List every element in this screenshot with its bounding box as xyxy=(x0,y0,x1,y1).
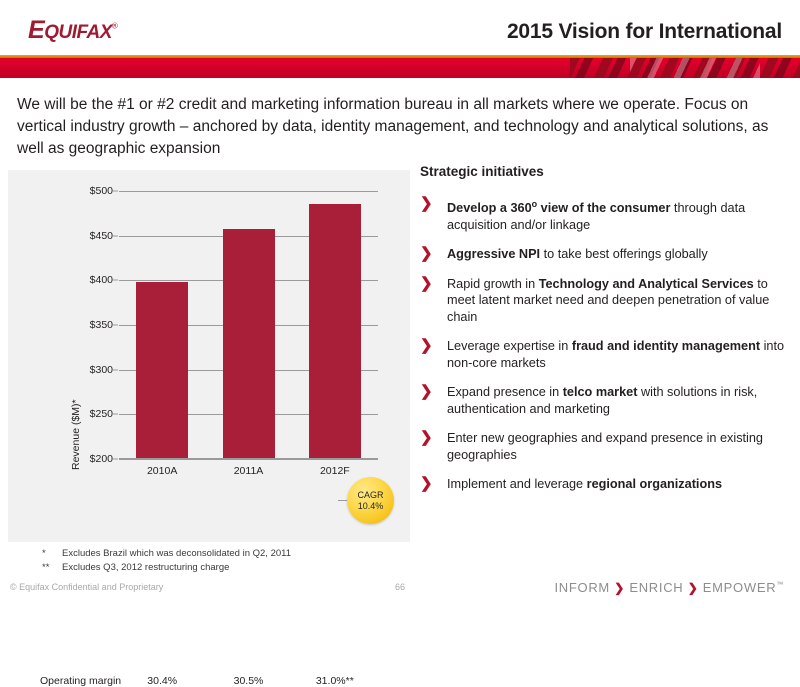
chevron-bullet-icon: ❯ xyxy=(420,245,433,262)
initiative-emphasis: telco market xyxy=(563,385,638,399)
degree-superscript: o xyxy=(532,199,538,209)
footnote-text: Excludes Brazil which was deconsolidated… xyxy=(62,548,291,559)
grid-line xyxy=(119,191,378,192)
y-axis-tick-label: $400 xyxy=(90,274,113,286)
tagline-enrich: ENRICH xyxy=(629,580,683,595)
y-axis-tick-mark xyxy=(113,414,118,415)
bar-2012F xyxy=(309,204,361,459)
operating-margin-value: 30.4% xyxy=(122,675,202,687)
initiative-text: Develop a 360o view of the consumer thro… xyxy=(447,201,745,232)
brand-tagline: INFORM ❯ ENRICH ❯ EMPOWER™ xyxy=(554,580,784,595)
lead-paragraph: We will be the #1 or #2 credit and marke… xyxy=(17,94,787,160)
cagr-label: CAGR xyxy=(357,490,383,501)
logo-e: E xyxy=(28,16,44,44)
y-axis-tick-mark xyxy=(113,191,118,192)
initiative-text: Aggressive NPI to take best offerings gl… xyxy=(447,247,708,261)
x-axis-tick-label: 2010A xyxy=(122,465,202,477)
initiative-emphasis: regional organizations xyxy=(587,477,722,491)
y-axis-tick-mark xyxy=(113,325,118,326)
chevron-bullet-icon: ❯ xyxy=(420,475,433,492)
tagline-empower: EMPOWER xyxy=(703,580,777,595)
initiative-emphasis: fraud and identity management xyxy=(572,339,760,353)
bar-2011A xyxy=(223,229,275,459)
initiative-text: Leverage expertise in fraud and identity… xyxy=(447,339,784,370)
y-axis-tick-label: $300 xyxy=(90,364,113,376)
trademark-icon: ™ xyxy=(776,582,784,589)
logo-rest: QUIFAX xyxy=(44,22,112,43)
footnote-marker: * xyxy=(42,548,46,559)
initiative-item-2[interactable]: ❯Aggressive NPI to take best offerings g… xyxy=(420,246,790,263)
y-axis-tick-label: $200 xyxy=(90,453,113,465)
initiative-emphasis: Aggressive NPI xyxy=(447,247,540,261)
initiatives-heading: Strategic initiatives xyxy=(420,164,544,179)
y-axis-tick-label: $350 xyxy=(90,319,113,331)
copyright-text: © Equifax Confidential and Proprietary xyxy=(10,582,163,592)
operating-margin-value: 30.5% xyxy=(209,675,289,687)
chevron-right-icon: ❯ xyxy=(614,581,625,595)
y-axis-tick-mark xyxy=(113,235,118,236)
grid-line xyxy=(119,459,378,460)
slide: EQUIFAX® 2015 Vision for International W… xyxy=(0,0,800,618)
header-red-band xyxy=(0,58,800,78)
chevron-right-icon-2: ❯ xyxy=(688,581,699,595)
initiative-item-6[interactable]: ❯Enter new geographies and expand presen… xyxy=(420,430,790,463)
page-title: 2015 Vision for International xyxy=(507,20,782,44)
y-axis-tick-label: $500 xyxy=(90,185,113,197)
y-axis-tick-mark xyxy=(113,280,118,281)
equifax-logo: EQUIFAX® xyxy=(28,16,117,45)
initiative-item-3[interactable]: ❯Rapid growth in Technology and Analytic… xyxy=(420,276,790,326)
x-axis-tick-label: 2012F xyxy=(295,465,375,477)
initiative-item-5[interactable]: ❯Expand presence in telco market with so… xyxy=(420,384,790,417)
header-stripe-highlight xyxy=(630,58,760,78)
y-axis-tick-mark xyxy=(113,459,118,460)
chevron-bullet-icon: ❯ xyxy=(420,195,433,212)
initiative-item-7[interactable]: ❯Implement and leverage regional organiz… xyxy=(420,476,790,493)
y-axis-label: Revenue ($M)* xyxy=(70,399,82,470)
initiatives-list: ❯Develop a 360o view of the consumer thr… xyxy=(420,196,790,506)
initiative-emphasis: Technology and Analytical Services xyxy=(539,277,754,291)
y-axis-tick-mark xyxy=(113,369,118,370)
y-axis-tick-label: $250 xyxy=(90,408,113,420)
initiative-text: Enter new geographies and expand presenc… xyxy=(447,431,763,462)
cagr-value: 10.4% xyxy=(358,501,384,512)
chevron-bullet-icon: ❯ xyxy=(420,275,433,292)
bar-chart-plot: $200$250$300$350$400$450$5002010A2011A20… xyxy=(119,191,378,459)
initiative-text: Rapid growth in Technology and Analytica… xyxy=(447,277,769,324)
operating-margin-label: Operating margin xyxy=(40,675,121,687)
initiative-item-1[interactable]: ❯Develop a 360o view of the consumer thr… xyxy=(420,196,790,233)
chevron-bullet-icon: ❯ xyxy=(420,337,433,354)
x-axis-line xyxy=(119,458,378,459)
footnote-text: Excludes Q3, 2012 restructuring charge xyxy=(62,562,229,573)
x-axis-tick-label: 2011A xyxy=(209,465,289,477)
chart-panel: Revenue ($M)* $200$250$300$350$400$450$5… xyxy=(8,170,410,542)
chevron-bullet-icon: ❯ xyxy=(420,383,433,400)
chevron-bullet-icon: ❯ xyxy=(420,429,433,446)
page-number: 66 xyxy=(395,582,405,592)
registered-mark-icon: ® xyxy=(112,22,117,31)
bar-2010A xyxy=(136,282,188,459)
y-axis-tick-label: $450 xyxy=(90,230,113,242)
tagline-inform: INFORM xyxy=(554,580,609,595)
initiative-text: Expand presence in telco market with sol… xyxy=(447,385,757,416)
initiative-emphasis: Develop a 360o view of the consumer xyxy=(447,201,670,215)
initiative-text: Implement and leverage regional organiza… xyxy=(447,477,722,491)
footnote-marker: ** xyxy=(42,562,49,573)
initiative-item-4[interactable]: ❯Leverage expertise in fraud and identit… xyxy=(420,338,790,371)
operating-margin-value: 31.0%** xyxy=(295,675,375,687)
slide-header: EQUIFAX® 2015 Vision for International xyxy=(0,0,800,80)
cagr-badge: CAGR 10.4% xyxy=(347,477,394,524)
